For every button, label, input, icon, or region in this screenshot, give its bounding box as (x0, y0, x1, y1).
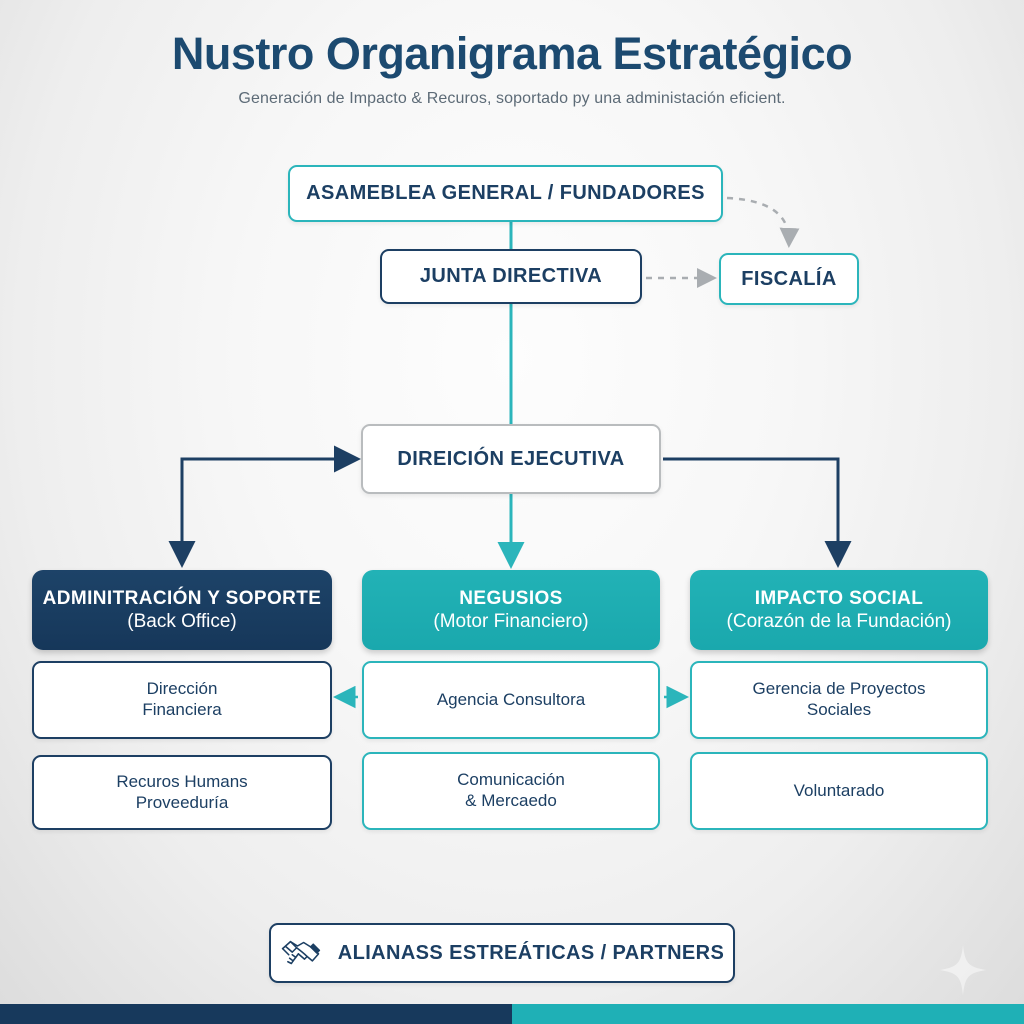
connector-asamblea-to-fiscalia (727, 198, 789, 243)
node-negusios-subtitle: (Motor Financiero) (433, 610, 588, 633)
page-subtitle: Generación de Impacto & Recuros, soporta… (0, 90, 1024, 108)
node-comunicacion-line2: & Mercaedo (465, 791, 557, 812)
node-voluntariado[interactable]: Voluntarado (690, 752, 988, 830)
node-direccion-financiera-line2: Financiera (142, 700, 221, 721)
node-negusios-title: NEGUSIOS (459, 587, 563, 610)
connector-direccion-to-admin (182, 459, 355, 562)
node-agencia-consultora[interactable]: Agencia Consultora (362, 661, 660, 739)
node-alianzas-label: ALIANASS ESTREÁTICAS / PARTNERS (338, 941, 725, 965)
node-administracion-soporte[interactable]: ADMINITRACIÓN Y SOPORTE (Back Office) (32, 570, 332, 650)
node-fiscalia-label: FISCALÍA (741, 267, 836, 291)
node-junta-label: JUNTA DIRECTIVA (420, 264, 602, 288)
node-asamblea-label: ASAMEBLEA GENERAL / FUNDADORES (306, 181, 705, 205)
node-direccion-financiera[interactable]: Dirección Financiera (32, 661, 332, 739)
node-recursos-humanos-line2: Proveeduría (136, 793, 229, 814)
footer-bar-right (512, 1004, 1024, 1024)
sparkle-decoration (940, 945, 986, 995)
node-comunicacion-line1: Comunicación (457, 770, 565, 791)
node-comunicacion-mercadeo[interactable]: Comunicación & Mercaedo (362, 752, 660, 830)
node-agencia-consultora-label: Agencia Consultora (437, 690, 585, 711)
node-impacto-social[interactable]: IMPACTO SOCIAL (Corazón de la Fundación) (690, 570, 988, 650)
node-alianzas-estrategicas[interactable]: ALIANASS ESTREÁTICAS / PARTNERS (269, 923, 735, 983)
organigrama-canvas: Nustro Organigrama Estratégico Generació… (0, 0, 1024, 1024)
connector-direccion-to-impacto (663, 459, 838, 562)
node-administracion-subtitle: (Back Office) (127, 610, 236, 633)
node-direccion-ejecutiva[interactable]: DIREICIÓN EJECUTIVA (361, 424, 661, 494)
connector-layer (0, 0, 1024, 1024)
handshake-icon (280, 937, 322, 969)
node-gerencia-proyectos-line1: Gerencia de Proyectos (753, 679, 926, 700)
node-voluntariado-label: Voluntarado (794, 781, 885, 802)
node-negusios[interactable]: NEGUSIOS (Motor Financiero) (362, 570, 660, 650)
node-administracion-title: ADMINITRACIÓN Y SOPORTE (43, 587, 322, 610)
page-title: Nustro Organigrama Estratégico (0, 28, 1024, 80)
footer-bar-left (0, 1004, 512, 1024)
node-direccion-label: DIREICIÓN EJECUTIVA (397, 447, 624, 471)
node-recursos-humanos[interactable]: Recuros Humans Proveeduría (32, 755, 332, 830)
node-impacto-title: IMPACTO SOCIAL (755, 587, 924, 610)
node-asamblea-general[interactable]: ASAMEBLEA GENERAL / FUNDADORES (288, 165, 723, 222)
node-gerencia-proyectos-line2: Sociales (807, 700, 871, 721)
node-fiscalia[interactable]: FISCALÍA (719, 253, 859, 305)
node-gerencia-proyectos-sociales[interactable]: Gerencia de Proyectos Sociales (690, 661, 988, 739)
node-junta-directiva[interactable]: JUNTA DIRECTIVA (380, 249, 642, 304)
node-impacto-subtitle: (Corazón de la Fundación) (727, 610, 952, 633)
node-direccion-financiera-line1: Dirección (147, 679, 218, 700)
node-recursos-humanos-line1: Recuros Humans (116, 772, 247, 793)
